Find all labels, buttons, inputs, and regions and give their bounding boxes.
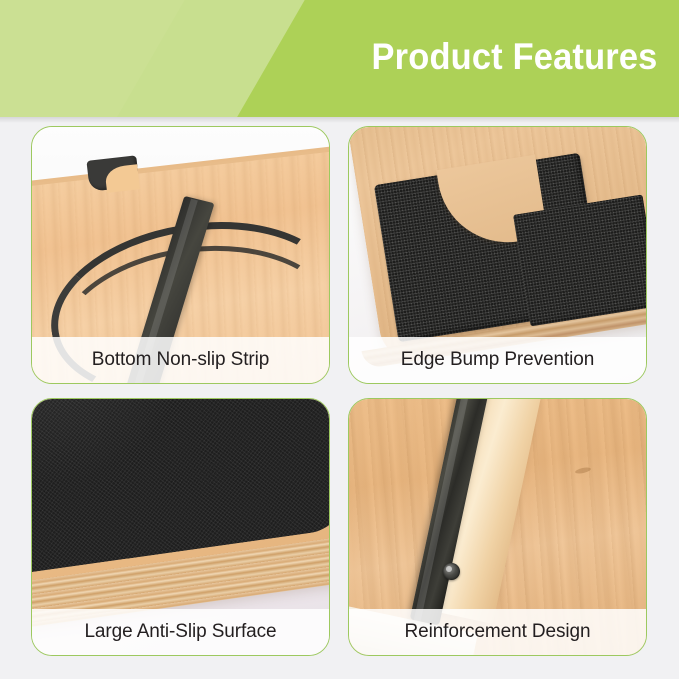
feature-card-reinforcement-design[interactable]: Reinforcement Design <box>348 398 647 656</box>
feature-caption: Edge Bump Prevention <box>401 349 594 371</box>
feature-caption: Bottom Non-slip Strip <box>92 349 269 371</box>
feature-card-large-anti-slip-surface[interactable]: Large Anti-Slip Surface <box>31 398 330 656</box>
feature-card-edge-bump-prevention[interactable]: Edge Bump Prevention <box>348 126 647 384</box>
caption-band: Edge Bump Prevention <box>349 337 646 383</box>
caption-band: Large Anti-Slip Surface <box>32 609 329 655</box>
screw-fastener <box>443 563 460 580</box>
feature-card-bottom-non-slip-strip[interactable]: Bottom Non-slip Strip <box>31 126 330 384</box>
caption-band: Bottom Non-slip Strip <box>32 337 329 383</box>
banner-drop-shadow <box>0 117 679 123</box>
bumper-pad-side-arm <box>513 194 646 326</box>
feature-caption: Reinforcement Design <box>405 621 591 643</box>
feature-caption: Large Anti-Slip Surface <box>84 621 276 643</box>
feature-card-grid: Bottom Non-slip Strip Edge Bump Preventi… <box>31 126 647 656</box>
page-title: Product Features <box>371 31 657 83</box>
header-banner: Product Features <box>0 0 679 117</box>
caption-band: Reinforcement Design <box>349 609 646 655</box>
corner-rubber-pad <box>87 155 141 191</box>
